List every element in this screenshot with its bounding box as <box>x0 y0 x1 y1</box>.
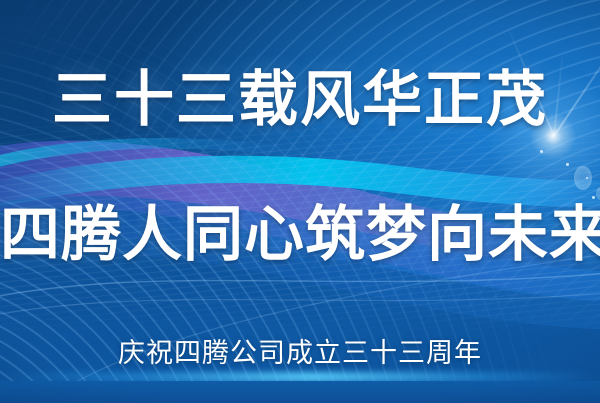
headline-line-2: 四腾人同心筑梦向未来 <box>0 203 600 267</box>
banner-subtitle: 庆祝四腾公司成立三十三周年 <box>0 337 600 369</box>
headline-line-1: 三十三载风华正茂 <box>0 68 600 132</box>
banner-content: 三十三载风华正茂 四腾人同心筑梦向未来 庆祝四腾公司成立三十三周年 <box>0 0 600 403</box>
anniversary-banner: 三十三载风华正茂 四腾人同心筑梦向未来 庆祝四腾公司成立三十三周年 <box>0 0 600 403</box>
